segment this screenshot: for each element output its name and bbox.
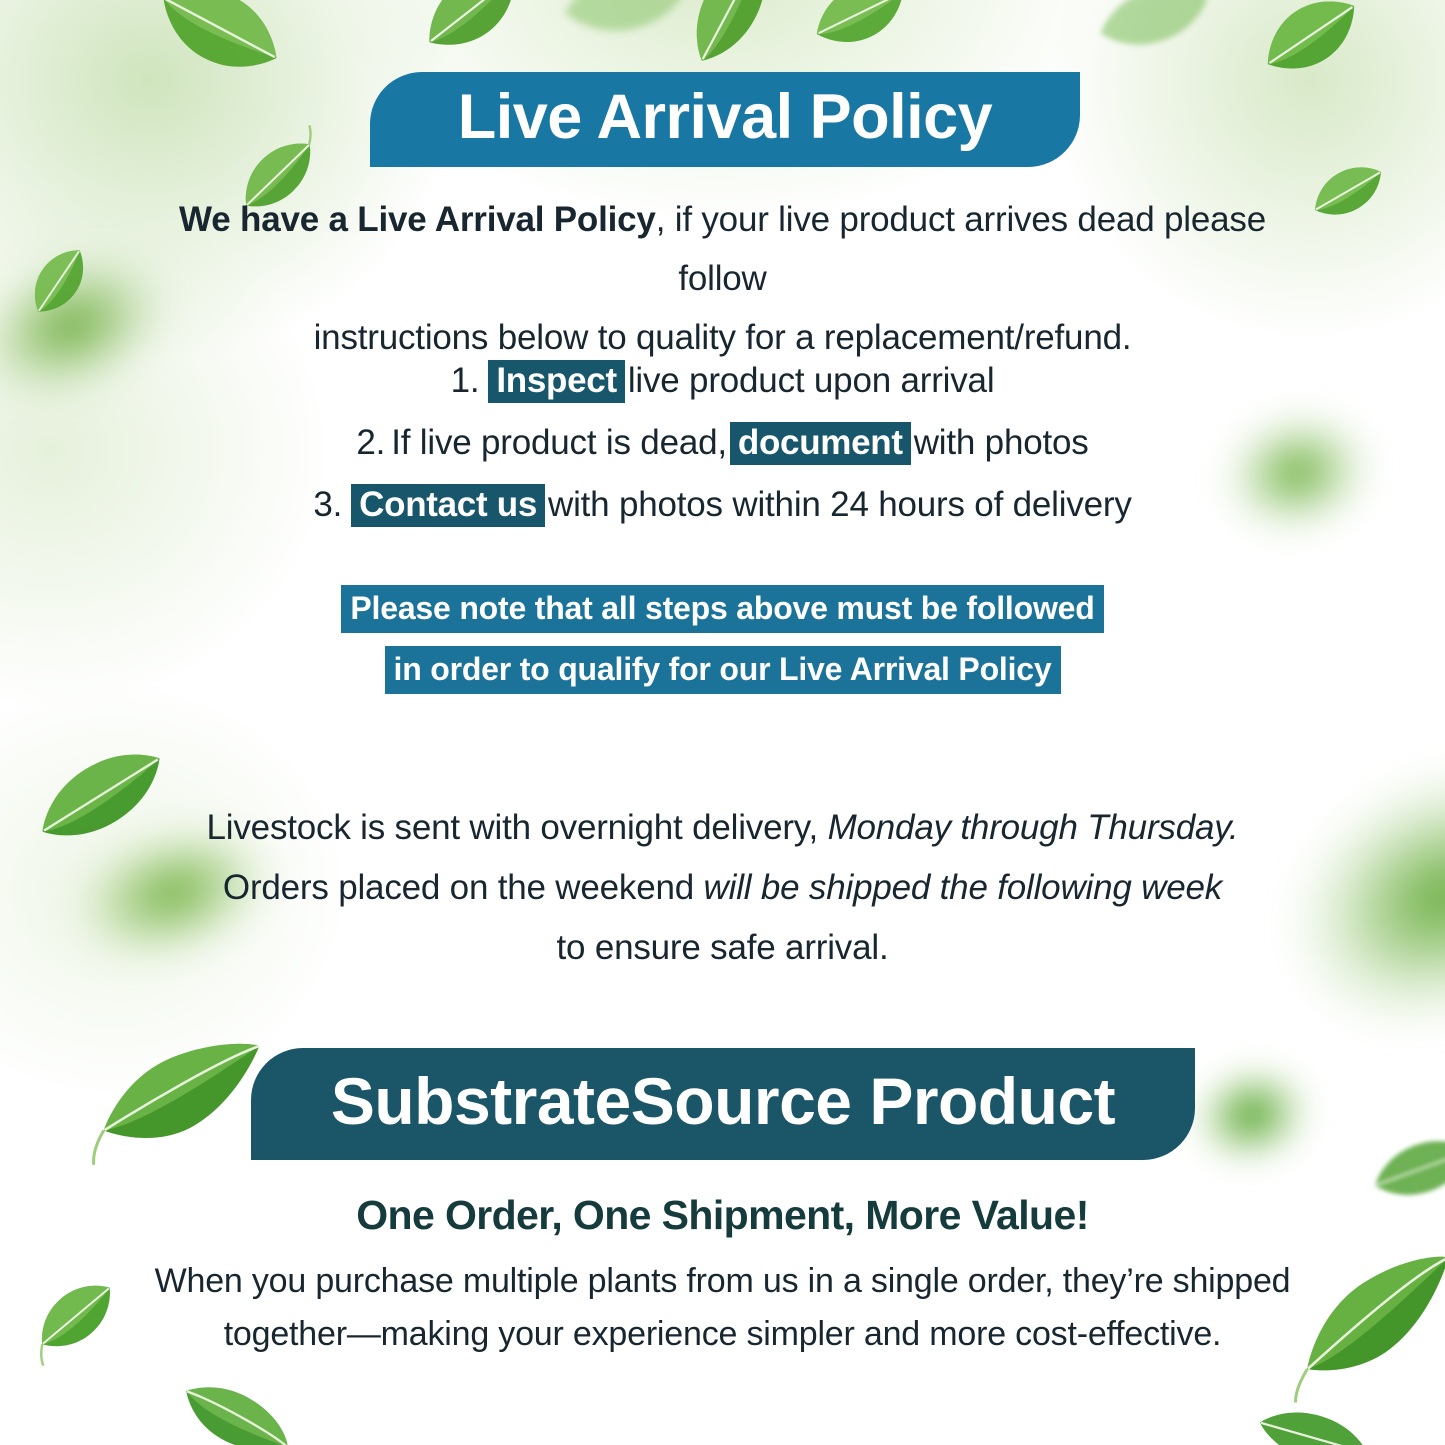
- banner-substratesource-product: SubstrateSource Product: [251, 1048, 1195, 1160]
- step-number: 1.: [451, 361, 480, 400]
- note-line-2: in order to qualify for our Live Arrival…: [385, 646, 1061, 694]
- steps-list: 1.Inspectlive product upon arrival 2.If …: [120, 350, 1325, 536]
- step-keyword-document: document: [730, 422, 911, 465]
- product-body-line-1: When you purchase multiple plants from u…: [130, 1255, 1315, 1308]
- shipping-line-2: Orders placed on the weekend will be shi…: [160, 858, 1285, 918]
- note-row-2: in order to qualify for our Live Arrival…: [120, 646, 1325, 694]
- intro-emphasis: We have a Live Arrival Policy: [179, 200, 656, 239]
- step-number: 3.: [313, 485, 342, 524]
- product-body-line-2: together—making your experience simpler …: [130, 1308, 1315, 1361]
- step-text-before: If live product is dead,: [391, 423, 727, 462]
- product-subheading: One Order, One Shipment, More Value!: [160, 1192, 1285, 1239]
- intro-rest: , if your live product arrives dead plea…: [656, 200, 1266, 298]
- shipping-line-2-italic: will be shipped the following week: [704, 868, 1223, 907]
- content-layer: Live Arrival Policy We have a Live Arriv…: [0, 0, 1445, 1445]
- policy-note-block: Please note that all steps above must be…: [120, 585, 1325, 707]
- note-line-1: Please note that all steps above must be…: [341, 585, 1103, 633]
- intro-paragraph: We have a Live Arrival Policy, if your l…: [150, 190, 1295, 367]
- shipping-line-1-plain: Livestock is sent with overnight deliver…: [207, 808, 828, 847]
- product-body-paragraph: When you purchase multiple plants from u…: [130, 1255, 1315, 1361]
- step-keyword-contact-us[interactable]: Contact us: [351, 484, 545, 527]
- list-item: 3.Contact uswith photos within 24 hours …: [120, 474, 1325, 536]
- list-item: 1.Inspectlive product upon arrival: [120, 350, 1325, 412]
- banner-live-arrival-policy: Live Arrival Policy: [370, 72, 1080, 167]
- shipping-line-2-plain: Orders placed on the weekend: [223, 868, 704, 907]
- step-text: with photos within 24 hours of delivery: [548, 485, 1132, 524]
- intro-line-1: We have a Live Arrival Policy, if your l…: [150, 190, 1295, 308]
- note-row-1: Please note that all steps above must be…: [120, 585, 1325, 633]
- shipping-line-1: Livestock is sent with overnight deliver…: [160, 798, 1285, 858]
- shipping-line-1-italic: Monday through Thursday.: [828, 808, 1239, 847]
- shipping-schedule-paragraph: Livestock is sent with overnight deliver…: [160, 798, 1285, 978]
- shipping-line-3: to ensure safe arrival.: [160, 918, 1285, 978]
- live-arrival-policy-infographic: Live Arrival Policy We have a Live Arriv…: [0, 0, 1445, 1445]
- step-number: 2.: [356, 423, 385, 462]
- step-keyword-inspect: Inspect: [488, 360, 624, 403]
- step-text: with photos: [914, 423, 1089, 462]
- step-text: live product upon arrival: [628, 361, 995, 400]
- list-item: 2.If live product is dead,documentwith p…: [120, 412, 1325, 474]
